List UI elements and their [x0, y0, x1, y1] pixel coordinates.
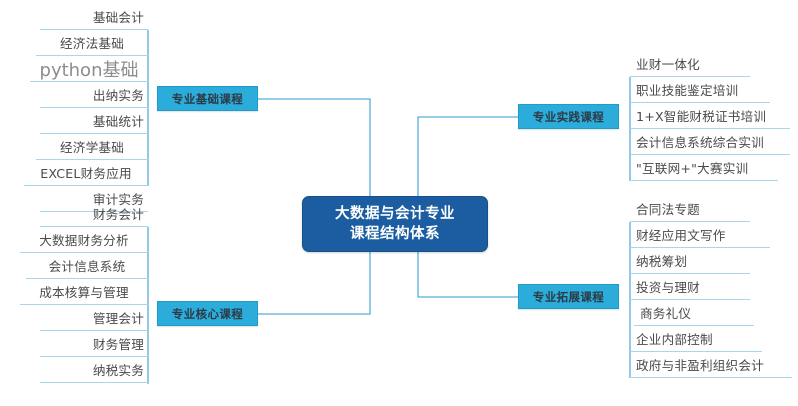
leaf-label: 纳税筹划 — [636, 251, 687, 270]
branch-label-basic[interactable]: 专业基础课程 — [157, 86, 258, 111]
leaf-label: 财务会计 — [93, 204, 144, 223]
leaf-item[interactable]: 基础会计 — [40, 4, 148, 30]
branch-label-extend[interactable]: 专业拓展课程 — [518, 284, 619, 309]
leaf-label: 财经应用文写作 — [636, 225, 726, 244]
leaf-item[interactable]: 商务礼仪 — [634, 300, 754, 326]
leaf-item[interactable]: 管理会计 — [40, 305, 148, 331]
mindmap-canvas: 大数据与会计专业 课程结构体系 专业基础课程 专业核心课程 专业实践课程 专业拓… — [0, 0, 798, 406]
leaf-label: python基础 — [40, 56, 139, 82]
leaf-label: 政府与非盈利组织会计 — [636, 355, 764, 374]
leaf-label: EXCEL财务应用 — [40, 163, 132, 182]
leaf-label: 业财一体化 — [636, 54, 700, 73]
leaf-item[interactable]: 业财一体化 — [630, 51, 750, 77]
leaf-label: 成本核算与管理 — [39, 282, 129, 301]
branch-label-core-text: 专业核心课程 — [172, 306, 243, 322]
leaf-item[interactable]: 基础统计 — [40, 108, 148, 134]
leaf-item[interactable]: 1+X智能财税证书培训 — [630, 103, 790, 129]
leaf-label: 管理会计 — [93, 308, 144, 327]
leaf-item[interactable]: EXCEL财务应用 — [24, 160, 148, 186]
leaf-label: 商务礼仪 — [640, 303, 691, 322]
leaf-item[interactable]: 合同法专题 — [630, 196, 750, 222]
leaf-label: 经济法基础 — [60, 33, 124, 52]
leaf-item[interactable]: 成本核算与管理 — [20, 279, 148, 305]
leaf-item[interactable]: 政府与非盈利组织会计 — [630, 352, 792, 378]
leaf-item[interactable]: 经济学基础 — [36, 134, 148, 160]
center-node[interactable]: 大数据与会计专业 课程结构体系 — [302, 196, 488, 252]
leaf-label: 投资与理财 — [636, 277, 700, 296]
leaf-label: 纳税实务 — [93, 360, 144, 379]
leaf-item[interactable]: 出纳实务 — [40, 82, 148, 108]
branch-label-extend-text: 专业拓展课程 — [533, 289, 604, 305]
leaf-label: "互联网+"大赛实训 — [636, 158, 748, 177]
leaf-label: 企业内部控制 — [636, 329, 713, 348]
leaf-label: 1+X智能财税证书培训 — [636, 106, 766, 125]
leaf-item[interactable]: 投资与理财 — [630, 274, 750, 300]
leaf-item[interactable]: 财务会计 — [40, 201, 148, 227]
leaf-item[interactable]: 企业内部控制 — [630, 326, 762, 352]
leaf-item[interactable]: 纳税筹划 — [630, 248, 750, 274]
branch-label-practice-text: 专业实践课程 — [533, 109, 604, 125]
leaf-label: 会计信息系统综合实训 — [636, 132, 764, 151]
leaf-label: 出纳实务 — [93, 85, 144, 104]
leaf-item[interactable]: 大数据财务分析 — [20, 227, 148, 253]
leaf-label: 大数据财务分析 — [39, 230, 129, 249]
leaf-item[interactable]: 经济法基础 — [36, 30, 148, 56]
leaf-label: 基础统计 — [93, 111, 144, 130]
leaf-item[interactable]: 财经应用文写作 — [630, 222, 770, 248]
leaf-label: 职业技能鉴定培训 — [636, 80, 738, 99]
leaf-label: 会计信息系统 — [49, 256, 126, 275]
leaf-item[interactable]: 纳税实务 — [40, 357, 148, 383]
leaf-item[interactable]: 财务管理 — [40, 331, 148, 357]
leaf-item[interactable]: 会计信息系统综合实训 — [630, 129, 790, 155]
branch-label-practice[interactable]: 专业实践课程 — [518, 104, 619, 129]
leaf-label: 经济学基础 — [60, 137, 124, 156]
leaf-item[interactable]: 职业技能鉴定培训 — [630, 77, 770, 103]
branch-label-core[interactable]: 专业核心课程 — [157, 301, 258, 326]
leaf-item[interactable]: python基础 — [30, 56, 148, 82]
branch-label-basic-text: 专业基础课程 — [172, 91, 243, 107]
leaf-label: 合同法专题 — [636, 199, 700, 218]
center-node-line1: 大数据与会计专业 — [335, 204, 455, 224]
leaf-item[interactable]: "互联网+"大赛实训 — [630, 155, 778, 181]
center-node-line2: 课程结构体系 — [350, 224, 440, 244]
leaf-label: 财务管理 — [93, 334, 144, 353]
leaf-item[interactable]: 会计信息系统 — [26, 253, 148, 279]
leaf-label: 基础会计 — [93, 7, 144, 26]
